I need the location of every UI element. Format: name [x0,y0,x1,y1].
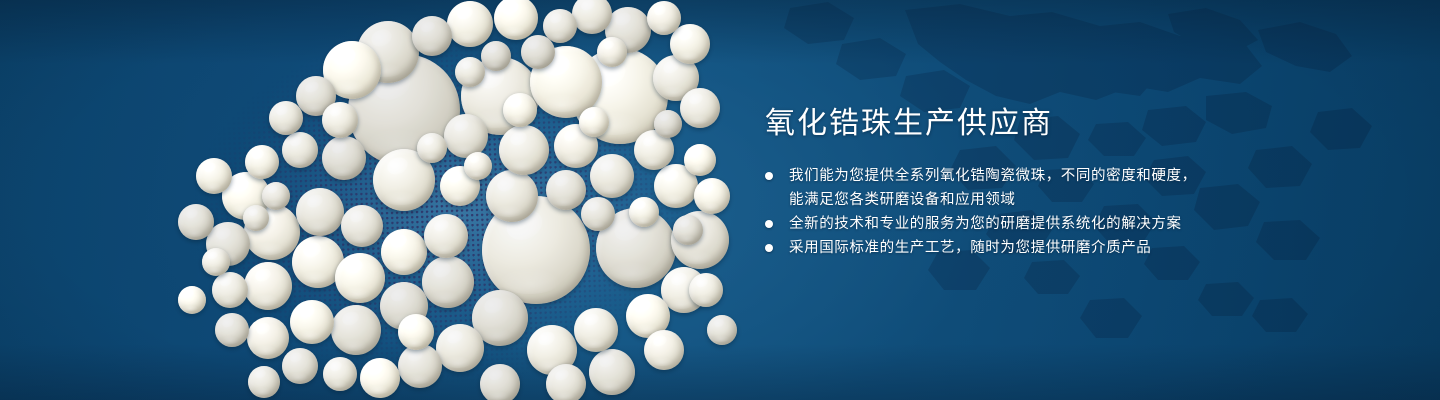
ceramic-bead [499,125,549,175]
ceramic-bead [436,324,484,372]
ceramic-bead [248,366,280,398]
ceramic-bead [579,107,609,137]
ceramic-bead [694,178,730,214]
ceramic-bead [444,114,488,158]
ceramic-bead [589,349,635,395]
ceramic-bead [243,205,269,231]
ceramic-bead [196,158,232,194]
ceramic-bead [447,1,493,47]
ceramic-bead [178,204,214,240]
page-title: 氧化锆珠生产供应商 [765,104,1385,144]
ceramic-bead [673,215,703,245]
feature-text-line1: 全新的技术和专业的服务为您的研磨提供系统化的解决方案 [789,216,1182,232]
ceramic-bead [424,214,468,258]
hero-banner: 氧化锆珠生产供应商 我们能为您提供全系列氧化锆陶瓷微珠，不同的密度和硬度， 能满… [0,0,1440,400]
ceramic-bead [412,16,452,56]
ceramic-bead [455,57,485,87]
bullet-dot-icon [765,172,773,180]
ceramic-bead [684,144,716,176]
ceramic-bead [262,182,290,210]
ceramic-bead [464,152,492,180]
list-item: 全新的技术和专业的服务为您的研磨提供系统化的解决方案 [765,212,1385,236]
ceramic-bead [322,102,358,138]
ceramic-bead [629,197,659,227]
ceramic-bead [597,37,627,67]
ceramic-bead [202,248,230,276]
ceramic-bead [398,344,442,388]
ceramic-bead [546,170,586,210]
list-item: 采用国际标准的生产工艺，随时为您提供研磨介质产品 [765,236,1385,260]
feature-text-line1: 我们能为您提供全系列氧化锆陶瓷微珠，不同的密度和硬度， [789,168,1197,184]
ceramic-bead [212,272,248,308]
ceramic-bead [269,101,303,135]
ceramic-bead [654,110,682,138]
ceramic-bead [481,41,511,71]
ceramic-bead [546,364,586,400]
ceramic-bead [647,1,681,35]
ceramic-bead [521,35,555,69]
bullet-dot-icon [765,244,773,252]
feature-list: 我们能为您提供全系列氧化锆陶瓷微珠，不同的密度和硬度， 能满足您各类研磨设备和应… [765,164,1385,260]
ceramic-bead [323,357,357,391]
feature-text-line2: 能满足您各类研磨设备和应用领域 [789,188,1385,212]
ceramic-bead [644,330,684,370]
ceramic-bead [245,145,279,179]
ceramic-bead [178,286,206,314]
ceramic-bead [215,313,249,347]
ceramic-bead [574,308,618,352]
ceramic-bead [480,364,520,400]
ceramic-bead [296,188,344,236]
ceramic-bead [335,253,385,303]
ceramic-bead [680,88,720,128]
ceramic-bead [581,197,615,231]
ceramic-bead [381,229,427,275]
ceramic-bead [244,262,292,310]
ceramic-bead [331,305,381,355]
ceramic-bead [503,93,537,127]
ceramic-bead [322,136,366,180]
ceramic-bead [290,300,334,344]
ceramic-bead [360,358,400,398]
ceramic-bead [247,317,289,359]
ceramic-bead [707,315,737,345]
bullet-dot-icon [765,220,773,228]
ceramic-bead [689,273,723,307]
ceramic-bead [417,133,447,163]
ceramic-bead [282,348,318,384]
feature-text-line1: 采用国际标准的生产工艺，随时为您提供研磨介质产品 [789,240,1151,256]
ceramic-bead [341,205,383,247]
ceramic-bead [398,314,434,350]
list-item: 我们能为您提供全系列氧化锆陶瓷微珠，不同的密度和硬度， 能满足您各类研磨设备和应… [765,164,1385,212]
ceramic-bead [422,256,474,308]
ceramic-bead [282,132,318,168]
ceramic-bead [590,154,634,198]
banner-copy: 氧化锆珠生产供应商 我们能为您提供全系列氧化锆陶瓷微珠，不同的密度和硬度， 能满… [765,104,1385,260]
ceramic-bead [486,170,538,222]
